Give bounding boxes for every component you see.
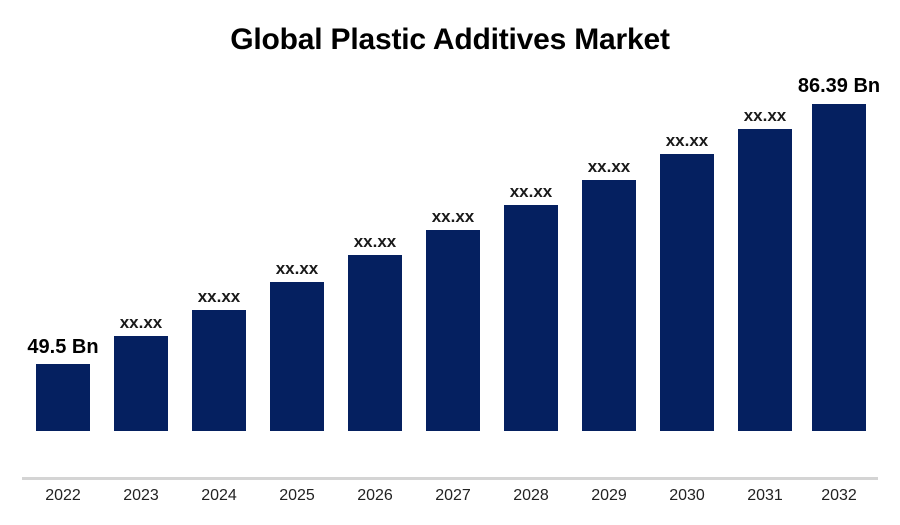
x-tick-2028: 2028 xyxy=(486,487,576,505)
x-tick-2026: 2026 xyxy=(330,487,420,505)
bar-chart: Global Plastic Additives Market 49.5 Bn … xyxy=(0,0,900,525)
x-axis-tick-labels: 2022 2023 2024 2025 2026 2027 2028 2029 … xyxy=(0,0,900,525)
x-tick-2032: 2032 xyxy=(794,487,884,505)
x-tick-2024: 2024 xyxy=(174,487,264,505)
x-tick-2023: 2023 xyxy=(96,487,186,505)
x-tick-2027: 2027 xyxy=(408,487,498,505)
x-tick-2030: 2030 xyxy=(642,487,732,505)
x-tick-2025: 2025 xyxy=(252,487,342,505)
x-tick-2029: 2029 xyxy=(564,487,654,505)
x-tick-2022: 2022 xyxy=(18,487,108,505)
